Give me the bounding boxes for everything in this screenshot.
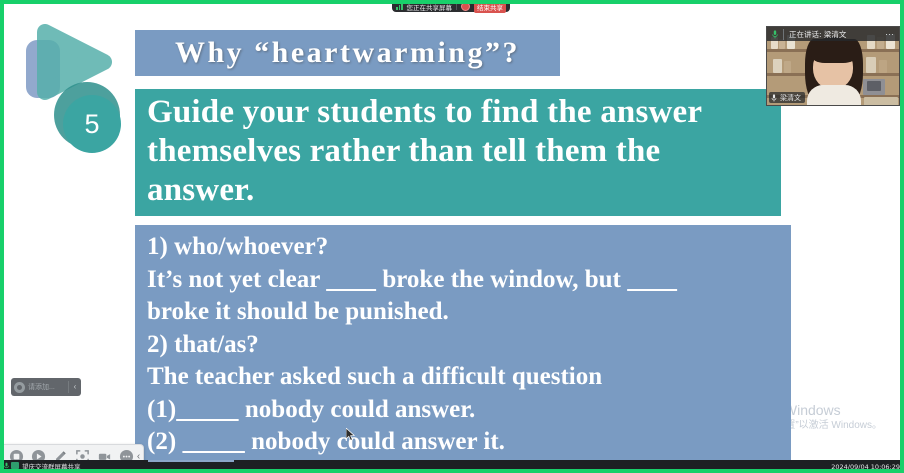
exercise-text: (2) (147, 428, 182, 455)
taskbar-app-item[interactable]: 望庆交流群屏幕共享 (0, 460, 85, 473)
floating-mini-widget[interactable]: 请添加... ‹ (11, 378, 81, 396)
exercise-text: 1) who/whoever? (147, 233, 328, 260)
more-options-icon[interactable]: ⋯ (885, 29, 895, 40)
chevron-left-icon[interactable]: ‹ (68, 381, 81, 393)
windows-taskbar: 望庆交流群屏幕共享 2024/09/04 10:06:29 (0, 460, 904, 473)
exercise-text: nobody could answer. (239, 396, 476, 423)
webcam-name-bar: 梁清文 (769, 92, 805, 103)
divider (456, 3, 457, 10)
exercise-text: It’s not yet clear (147, 266, 326, 293)
share-status-text: 您正在共享屏幕 (407, 2, 453, 12)
q1-sentence-b: broke it should be punished. (147, 296, 781, 329)
exercise-text: nobody could answer it. (245, 428, 505, 455)
mouse-cursor (346, 428, 356, 442)
answer-blank (627, 266, 677, 293)
q2-label: 2) that/as? (147, 329, 781, 362)
q2-option-1: (1) nobody could answer. (147, 394, 781, 427)
webcam-topbar: 正在讲话: 梁清文 ⋯ (767, 27, 899, 41)
answer-blank (176, 396, 239, 423)
webcam-pip[interactable]: 正在讲话: 梁清文 ⋯ 梁清文 (766, 26, 900, 106)
q2-stem: The teacher asked such a difficult quest… (147, 361, 781, 394)
slide-number-badge: 5 (63, 95, 121, 153)
webcam-participant-name: 梁清文 (780, 93, 801, 103)
exercise-text: 2) that/as? (147, 331, 259, 358)
statement-text: Guide your students to find the answer t… (147, 93, 769, 210)
screen-share-banner: 您正在共享屏幕 结束共享 (392, 1, 510, 12)
circle-icon[interactable] (14, 382, 25, 393)
answer-blank (182, 428, 245, 455)
taskbar-highlight-strip (148, 460, 234, 462)
slide-title-banner: Why “heartwarming”? (135, 30, 560, 76)
exercise-text: The teacher asked such a difficult quest… (147, 363, 602, 390)
app-window-icon (11, 462, 19, 469)
q2-option-2: (2) nobody could answer it. (147, 426, 781, 459)
q1-label: 1) who/whoever? (147, 231, 781, 264)
signal-bars-icon (396, 3, 403, 10)
taskbar-clock: 2024/09/04 10:06:29 (831, 463, 900, 471)
webcam-speaking-label: 正在讲话: 梁清文 (783, 29, 846, 40)
page-title: Why “heartwarming”? (175, 36, 520, 70)
statement-block: Guide your students to find the answer t… (135, 89, 781, 216)
q1-sentence-a: It’s not yet clear broke the window, but (147, 264, 781, 297)
microphone-icon (4, 462, 9, 470)
exercise-block: 1) who/whoever?It’s not yet clear broke … (135, 225, 791, 465)
exercise-text: broke the window, but (376, 266, 627, 293)
taskbar-app-label: 望庆交流群屏幕共享 (22, 461, 81, 471)
microphone-icon[interactable] (772, 30, 778, 39)
exercise-text: broke it should be punished. (147, 298, 449, 325)
mini-widget-input[interactable]: 请添加... (28, 382, 68, 392)
microphone-icon (771, 94, 777, 102)
exercise-line-list: 1) who/whoever?It’s not yet clear broke … (147, 231, 781, 459)
answer-blank (326, 266, 376, 293)
exercise-text: (1) (147, 396, 176, 423)
stop-share-button[interactable]: 结束共享 (474, 1, 506, 13)
record-dot-icon[interactable] (461, 2, 470, 11)
